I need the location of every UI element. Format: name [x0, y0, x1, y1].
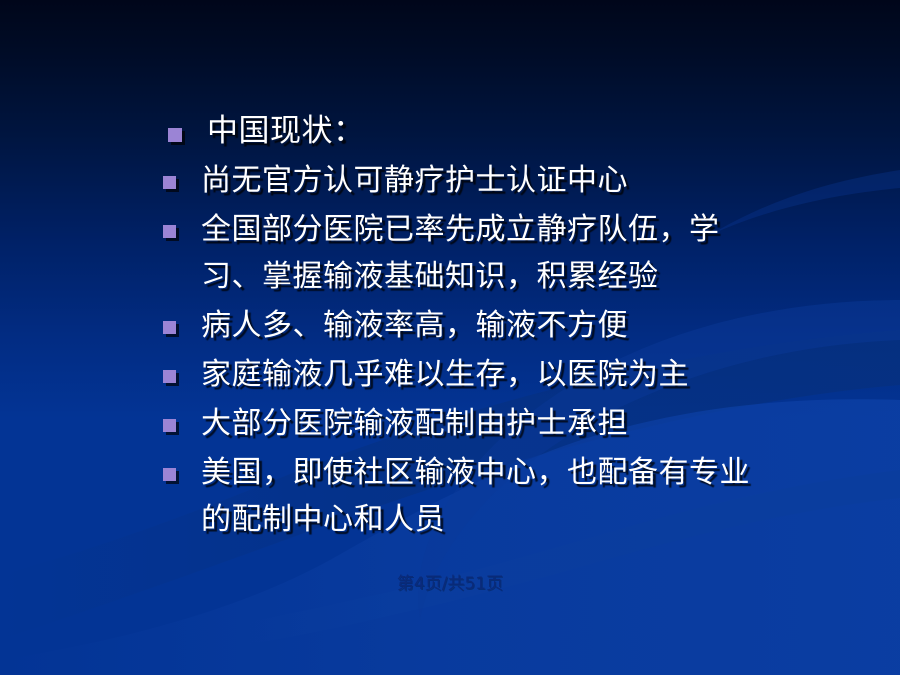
list-item-label: 全国部分医院已率先成立静疗队伍，学习、掌握输液基础知识，积累经验 [201, 206, 755, 300]
list-item-label: 家庭输液几乎难以生存，以医院为主 [201, 351, 755, 398]
bullet-square-icon [163, 321, 176, 334]
page-number-footer: 第4页/共51页 [0, 573, 900, 595]
bullet-square-icon [163, 419, 176, 432]
bullet-square-icon [163, 176, 176, 189]
slide-content: 中国现状： 尚无官方认可静疗护士认证中心 全国部分医院已率先成立静疗队伍，学习、… [0, 0, 900, 675]
list-item-label: 大部分医院输液配制由护士承担 [201, 400, 755, 447]
bullet-square-icon [163, 370, 176, 383]
list-item: 美国，即使社区输液中心，也配备有专业的配制中心和人员 [155, 449, 755, 543]
list-item: 尚无官方认可静疗护士认证中心 [155, 157, 755, 204]
bullet-square-icon [163, 225, 176, 238]
list-item: 家庭输液几乎难以生存，以医院为主 [155, 351, 755, 398]
bullet-list: 中国现状： 尚无官方认可静疗护士认证中心 全国部分医院已率先成立静疗队伍，学习、… [155, 108, 755, 545]
list-item-label: 中国现状： [207, 108, 755, 155]
bullet-square-icon [168, 128, 182, 142]
bullet-square-icon [163, 468, 176, 481]
list-item-label: 尚无官方认可静疗护士认证中心 [201, 157, 755, 204]
list-item: 中国现状： [155, 108, 755, 155]
presentation-slide: 中国现状： 尚无官方认可静疗护士认证中心 全国部分医院已率先成立静疗队伍，学习、… [0, 0, 900, 675]
list-item: 全国部分医院已率先成立静疗队伍，学习、掌握输液基础知识，积累经验 [155, 206, 755, 300]
list-item: 大部分医院输液配制由护士承担 [155, 400, 755, 447]
list-item-label: 病人多、输液率高，输液不方便 [201, 302, 755, 349]
list-item: 病人多、输液率高，输液不方便 [155, 302, 755, 349]
list-item-label: 美国，即使社区输液中心，也配备有专业的配制中心和人员 [201, 449, 755, 543]
